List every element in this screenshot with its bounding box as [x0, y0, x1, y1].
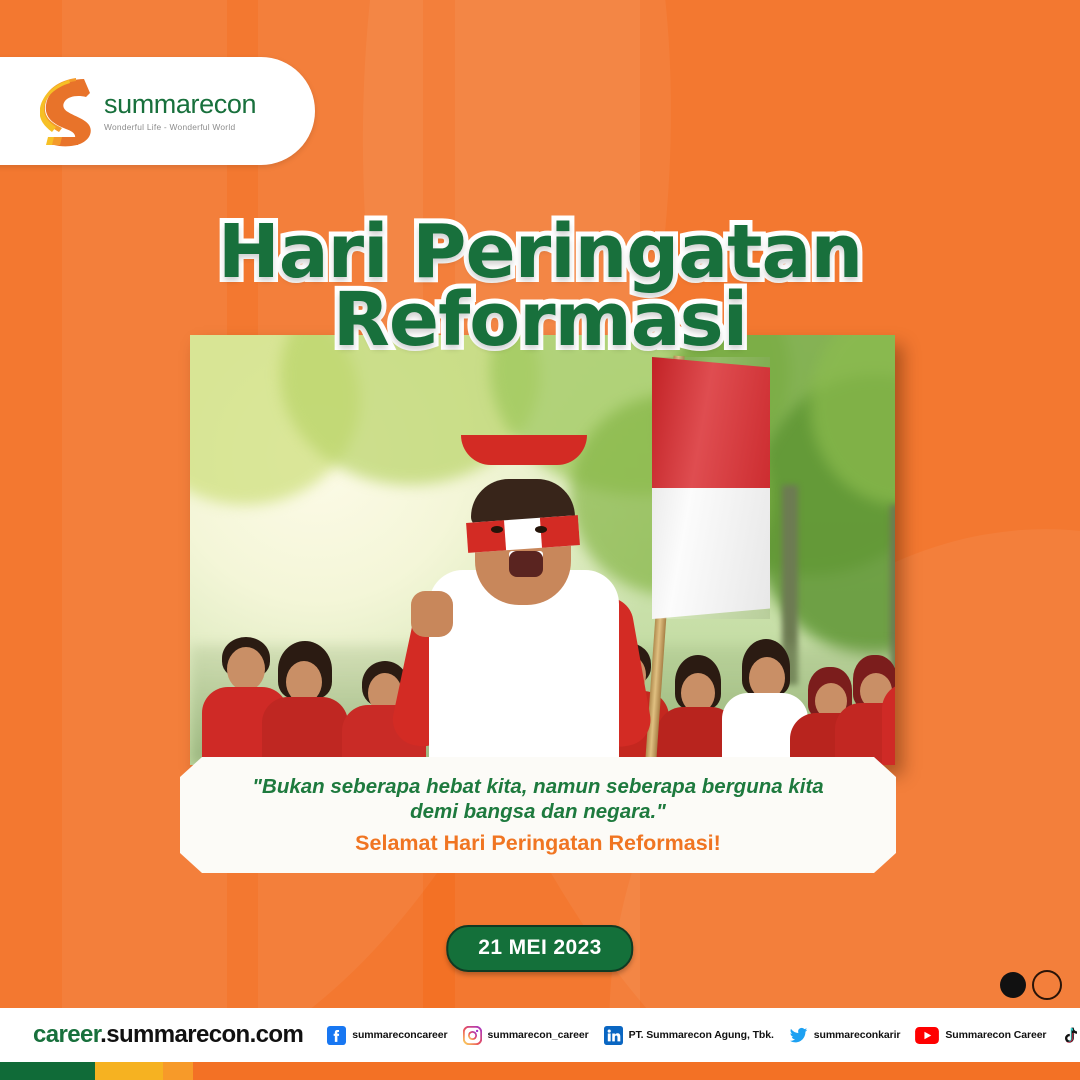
facebook-icon — [327, 1026, 346, 1045]
poster-canvas: summarecon Wonderful Life - Wonderful Wo… — [0, 0, 1080, 1080]
indonesian-flag — [652, 357, 770, 619]
strip-light-orange — [163, 1062, 193, 1080]
quote-cta: Selamat Hari Peringatan Reformasi! — [355, 831, 721, 856]
social-youtube[interactable]: Summarecon Career — [915, 1027, 1046, 1044]
instagram-icon — [463, 1026, 482, 1045]
hero-eye — [491, 526, 503, 533]
hero-mouth — [509, 551, 543, 577]
twitter-handle: summareconkarir — [814, 1029, 901, 1041]
social-linkedin[interactable]: PT. Summarecon Agung, Tbk. — [604, 1026, 774, 1045]
youtube-handle: Summarecon Career — [945, 1029, 1046, 1041]
hero-eye — [535, 526, 547, 533]
logo-wordmark: summarecon — [104, 91, 256, 118]
facebook-handle: summareconcareer — [352, 1029, 447, 1041]
brand-logo-pill: summarecon Wonderful Life - Wonderful Wo… — [0, 57, 315, 165]
hero-photo — [190, 335, 895, 765]
title-line-1: Hari Peringatan — [0, 218, 1080, 286]
social-tiktok[interactable]: summarecon_career — [1061, 1026, 1080, 1045]
logo-tagline: Wonderful Life - Wonderful World — [104, 122, 256, 132]
social-twitter[interactable]: summareconkarir — [789, 1026, 901, 1045]
date-badge: 21 MEI 2023 — [446, 925, 633, 972]
quote-card: "Bukan seberapa hebat kita, namun sebera… — [180, 757, 896, 873]
bottom-color-strip — [0, 1062, 1080, 1080]
website-url-career: career — [33, 1021, 100, 1048]
crowd-person — [880, 631, 895, 765]
carousel-dots[interactable] — [1000, 970, 1062, 1000]
strip-orange — [193, 1062, 1080, 1080]
carousel-dot-2[interactable] — [1032, 970, 1062, 1000]
quote-line-1: "Bukan seberapa hebat kita, namun sebera… — [252, 774, 823, 799]
youtube-icon — [915, 1027, 939, 1044]
quote-line-2: demi bangsa dan negara." — [410, 799, 666, 824]
title-line-2: Reformasi — [0, 286, 1080, 354]
linkedin-icon — [604, 1026, 623, 1045]
instagram-handle: summarecon_career — [488, 1029, 589, 1041]
website-url-domain: .summarecon.com — [100, 1021, 303, 1048]
page-title: Hari Peringatan Reformasi — [0, 218, 1080, 354]
strip-yellow — [95, 1062, 163, 1080]
hero-fist — [411, 591, 453, 637]
social-links: summareconcareer summarecon_career — [327, 1026, 1080, 1045]
linkedin-handle: PT. Summarecon Agung, Tbk. — [629, 1029, 774, 1041]
hero-person — [405, 435, 640, 765]
social-instagram[interactable]: summarecon_career — [463, 1026, 589, 1045]
footer-bar: career.summarecon.com summareconcareer — [0, 1008, 1080, 1062]
website-url[interactable]: career.summarecon.com — [33, 1021, 303, 1049]
strip-green — [0, 1062, 95, 1080]
twitter-icon — [789, 1026, 808, 1045]
social-facebook[interactable]: summareconcareer — [327, 1026, 447, 1045]
tiktok-icon — [1061, 1026, 1080, 1045]
summarecon-s-logo-icon — [40, 75, 106, 147]
crowd-person — [258, 645, 350, 765]
hero-collar — [461, 435, 587, 465]
carousel-dot-1[interactable] — [1000, 972, 1026, 998]
flag-shading — [652, 357, 770, 619]
